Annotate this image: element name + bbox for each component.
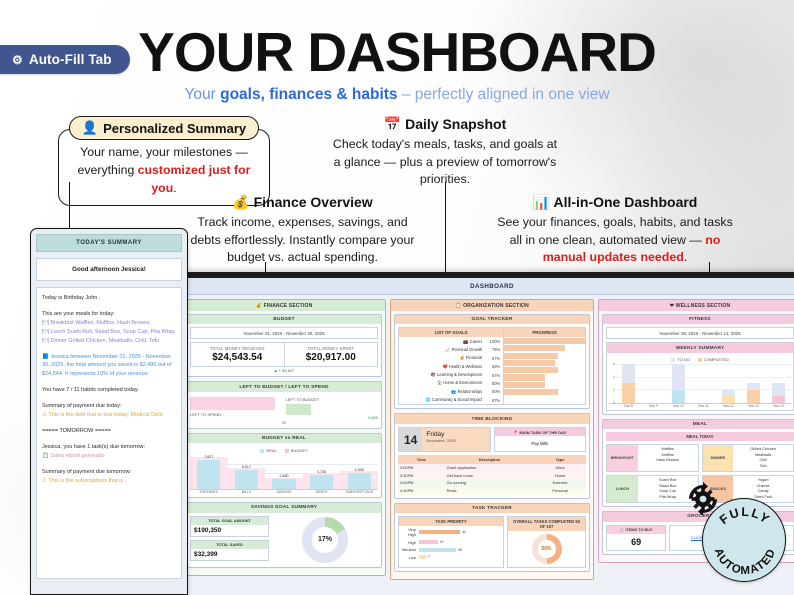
heart-icon: ❤️ — [443, 364, 448, 369]
summary-meals-intro: This are your meals for today: — [42, 311, 115, 317]
time-cell: 3:00PM — [398, 464, 445, 472]
priority-bar — [419, 540, 438, 544]
personalized-summary-chip: 👤 Personalized Summary — [69, 116, 259, 140]
tablet-frame: DASHBOARD 💰 FINANCE SECTION BUDGET Novem… — [172, 272, 794, 595]
fitness-stack — [672, 364, 685, 403]
goal-percent: 50% — [486, 389, 500, 394]
left-to-budget-label: LEFT TO BUDGET — [286, 397, 379, 404]
description-cell: Grant application — [445, 464, 535, 472]
fitness-completed-segment — [722, 396, 735, 403]
fitness-y-axis: 6420 — [609, 364, 616, 403]
left-to-budget-bar — [286, 404, 312, 415]
svg-text:FULLY: FULLY — [717, 505, 773, 527]
fitness-date-range[interactable]: November 08, 2025 - November 14, 2025 — [606, 327, 794, 339]
summary-tasks-tomorrow-item: 📋 Sales report generatio — [42, 453, 105, 459]
organization-section: 📋 ORGANIZATION SECTION GOAL TRACKER LIST… — [390, 299, 594, 580]
goal-row: 💰 Financial67% — [399, 354, 503, 362]
summary-meals: This are your meals for today: 🍽 Breakfa… — [42, 310, 176, 346]
wellness-section-title: WELLNESS SECTION — [676, 303, 731, 309]
fitness-card: FITNESS November 08, 2025 - November 14,… — [602, 314, 794, 415]
time-blocking-table: Time Description Type 3:00PMGrant applic… — [398, 455, 586, 494]
time-cell: 4:30PM — [398, 487, 445, 495]
overall-tasks-percent: 50% — [542, 546, 552, 552]
gear-refresh-icon — [683, 479, 723, 519]
summary-dinner: 🍽 Dinner Grilled Chicken, Meatballs, Chi… — [42, 338, 159, 344]
savings-goal-title: SAVINGS GOAL SUMMARY — [187, 503, 381, 512]
organization-section-title: ORGANIZATION SECTION — [463, 303, 529, 309]
overall-tasks-widget: OVERALL TASKS COMPLETED 53 OF 107 50% — [507, 516, 586, 568]
bvr-real-bar: 2,480 — [272, 479, 295, 489]
bvr-column: 4,338 — [340, 456, 378, 489]
legend-swatch-budget — [285, 449, 289, 453]
bvr-value-label: 4,338 — [348, 468, 371, 472]
overall-tasks-donut: 50% — [532, 534, 562, 564]
fitness-stack — [747, 383, 760, 403]
fitness-column — [691, 364, 716, 403]
goal-name: ❤️ Health & Wellness — [402, 364, 486, 370]
goal-name: 📚 Learning & Development — [402, 372, 486, 378]
fitness-x-axis: Nov 8Nov 9Nov 10Nov 11Nov 12Nov 13Nov 14 — [609, 404, 791, 408]
weekly-summary-chart-wrap: TO DO COMPLETED 6420 — [607, 353, 793, 410]
finance-section-title-row: 💰 FINANCE SECTION — [183, 300, 385, 311]
day-name: Friday — [426, 431, 455, 438]
task-tracker-title: TASK TRACKER — [395, 504, 589, 513]
cart-icon: 🛒 — [620, 528, 625, 532]
time-blocking-title: TIME BLOCKING — [395, 414, 589, 423]
personalized-line2-post: . — [173, 181, 176, 195]
total-goal-amount-box: TOTAL GOAL AMOUNT $190,350 — [190, 516, 269, 537]
legend-swatch-real — [260, 449, 264, 453]
bvr-x-label: DEBTS — [303, 490, 341, 494]
items-to-buy-label: 🛒 ITEMS TO BUY — [607, 526, 665, 534]
savings-layout: TOTAL GOAL AMOUNT $190,350 TOTAL SAVED $… — [190, 516, 378, 564]
all-in-one-title: All-in-One Dashboard — [553, 194, 697, 210]
bar-chart-icon: 📊 — [533, 194, 550, 210]
goal-name: 🏠 Home & Environment — [402, 380, 486, 386]
main-task-widget: 📍 MAIN TASK OF THE DAY Pay Bills — [494, 427, 587, 453]
left-to-budget-group: LEFT TO BUDGET 3,699 — [286, 397, 379, 420]
summary-body: Today is Birthday John . This are your m… — [36, 287, 182, 579]
goal-percent: 75% — [486, 347, 500, 352]
goal-name: 👥 Relationships — [402, 389, 486, 395]
lunch-label: LUNCH — [607, 476, 638, 502]
main-task-value: Pay Bills — [495, 436, 586, 451]
fitness-y-tick: 2 — [613, 388, 615, 392]
goal-list-column: LIST OF GOALS 💼 Career100%📈 Personal Gro… — [399, 328, 503, 404]
savings-goal-card: SAVINGS GOAL SUMMARY TOTAL GOAL AMOUNT $… — [186, 502, 382, 567]
goal-row: ❤️ Health & Wellness63% — [399, 363, 503, 371]
fitness-stack — [772, 383, 785, 403]
goal-list-header: LIST OF GOALS — [399, 328, 503, 337]
all-in-one-text-pre: See your finances, goals, habits, and ta… — [497, 215, 733, 247]
summary-payments-today-title: Summary of payment due today: — [42, 403, 121, 409]
organization-column: 📋 ORGANIZATION SECTION GOAL TRACKER LIST… — [390, 299, 594, 584]
savings-donut-wrap: 17% — [272, 516, 378, 564]
fitness-column — [741, 364, 766, 403]
wellness-section-title-row: ❤ WELLNESS SECTION — [599, 300, 794, 311]
type-cell: Home — [534, 471, 586, 479]
priority-value: 38 — [456, 548, 462, 552]
task-tracker-layout: TASK PRIORITY Very High42High19Medium38L… — [398, 516, 586, 568]
time-cell: 3:30PM — [398, 471, 445, 479]
goal-progress-bar-row — [504, 374, 585, 381]
money-bag-icon: 💰 — [256, 303, 262, 309]
month-year: November, 2025 — [426, 438, 455, 443]
fitness-y-tick: 6 — [613, 362, 615, 366]
finance-section-title: FINANCE SECTION — [264, 303, 313, 309]
goal-name: 💰 Financial — [402, 355, 486, 361]
date-widget: 14 Friday November, 2025 — [398, 427, 491, 453]
goal-progress-bar — [504, 382, 544, 388]
priority-bar — [419, 555, 426, 559]
goal-percent: 63% — [486, 364, 500, 369]
left-to-axis-zero: $0 — [190, 420, 378, 425]
priority-name: High — [402, 540, 419, 545]
goal-row: 👥 Relationships50% — [399, 388, 503, 396]
dinner-items: Grilled Chicken Meatballs Chili Tofu — [733, 445, 793, 471]
fitness-legend: TO DO COMPLETED — [609, 355, 791, 364]
task-priority-row: High19 — [399, 538, 503, 546]
bvr-value-label: 3,735 — [310, 470, 333, 474]
fitness-stack — [622, 364, 635, 403]
savings-figures: TOTAL GOAL AMOUNT $190,350 TOTAL SAVED $… — [190, 516, 269, 564]
summary-payments-tomorrow-item: ⚠ This is the subscriptions that is .. — [42, 478, 128, 484]
breakfast-cell: BREAKFAST Waffles Muffins Hash Browns — [606, 444, 699, 472]
callout-all-in-one: 📊 All-in-One Dashboard See your finances… — [495, 194, 735, 267]
goal-tracker-title: GOAL TRACKER — [395, 315, 589, 324]
description-cell: Go running — [445, 479, 535, 487]
items-to-buy-text: ITEMS TO BUY — [626, 528, 653, 532]
type-cell: Exercise — [534, 479, 586, 487]
all-in-one-text: See your finances, goals, habits, and ta… — [495, 214, 735, 267]
task-priority-row: Medium38 — [399, 546, 503, 554]
personalized-line2-highlight: customized just for you — [138, 163, 251, 195]
left-to-green-value: 3,699 — [286, 415, 379, 420]
weekly-summary-widget: WEEKLY SUMMARY TO DO COMPLETED 6420 — [606, 342, 794, 410]
summary-lunch: 🍽 Lunch Sushi Roll, Salad Box, Soup Cup,… — [42, 329, 175, 335]
goal-progress-bar-row — [504, 381, 585, 388]
task-priority-row: Very High42 — [399, 526, 503, 539]
finance-overview-title: Finance Overview — [254, 194, 373, 210]
fitness-x-label: Nov 8 — [616, 404, 641, 408]
fitness-title: FITNESS — [603, 315, 794, 324]
bvr-real-bar: 7,827 — [197, 460, 220, 489]
person-icon: 👤 — [82, 120, 98, 136]
goal-progress-column: PROGRESS — [503, 328, 585, 404]
all-in-one-text-post: . — [684, 250, 687, 264]
total-money-spent: TOTAL MONEY SPENT $20,917.00 — [284, 343, 378, 366]
priority-value: 7 — [426, 555, 430, 559]
dinner-cell: DINNER Grilled Chicken Meatballs Chili T… — [702, 444, 794, 472]
goal-tracker-table: LIST OF GOALS 💼 Career100%📈 Personal Gro… — [398, 327, 586, 405]
legend-todo: TO DO — [671, 357, 690, 362]
summary-payments-today: Summary of payment due today: ⚠ This is … — [42, 402, 176, 420]
summary-p1: Today is Birthday John . — [42, 294, 176, 303]
time-block-row: 3:30PMGet back homeHome — [398, 471, 586, 479]
heart-icon: ❤ — [670, 303, 674, 309]
goal-progress-bars — [504, 337, 585, 395]
main-task-header: 📍 MAIN TASK OF THE DAY — [495, 428, 586, 437]
bvr-value-label: 2,480 — [272, 474, 295, 478]
priority-name: Low — [402, 555, 419, 560]
bvr-x-axis: EXPENSESBILLSSAVINGSDEBTSSUBSCRIPTIONS — [190, 490, 378, 494]
goal-name: 📈 Personal Growth — [402, 347, 486, 353]
fitness-body: November 08, 2025 - November 14, 2025 WE… — [603, 324, 794, 413]
bvr-real-bar: 4,338 — [348, 473, 371, 490]
daily-snapshot-title: Daily Snapshot — [405, 116, 506, 132]
globe-icon: 🌐 — [426, 397, 431, 402]
time-block-row: 3:00PMGrant applicationWork — [398, 464, 586, 472]
personalized-line2-pre: everything — [78, 163, 138, 177]
left-to-card-title: LEFT TO BUDGET / LEFT TO SPEND — [187, 382, 381, 391]
daily-snapshot-text: Check today's meals, tasks, and goals at… — [330, 136, 560, 189]
savings-goal-body: TOTAL GOAL AMOUNT $190,350 TOTAL SAVED $… — [187, 513, 381, 567]
finance-section: 💰 FINANCE SECTION BUDGET November 01, 20… — [182, 299, 386, 576]
goal-rows: 💼 Career100%📈 Personal Growth75%💰 Financ… — [399, 337, 503, 404]
clipboard-icon: 📋 — [455, 303, 461, 309]
goal-percent: 50% — [486, 381, 500, 386]
fitness-completed-segment — [622, 383, 635, 403]
time-blocking-top: 14 Friday November, 2025 📍 M — [398, 427, 586, 453]
fitness-column — [641, 364, 666, 403]
pin-icon: 📍 — [513, 430, 518, 435]
subtitle-bold: goals, finances & habits — [220, 86, 397, 103]
time-cell: 4:00PM — [398, 479, 445, 487]
breakfast-label: BREAKFAST — [607, 445, 638, 471]
bvr-x-label: EXPENSES — [190, 490, 228, 494]
bvr-legend-real-label: REAL — [266, 448, 276, 453]
goal-progress-bar — [504, 353, 558, 359]
fitness-x-label: Nov 12 — [716, 404, 741, 408]
goal-row: 🌐 Community & Social Impact67% — [399, 396, 503, 404]
summary-payments-tomorrow-title: Summary of payment due tomorrow: — [42, 469, 131, 475]
budget-card-body: November 01, 2025 - November 30, 2025 TO… — [187, 324, 381, 376]
bvr-bar-group: 7,8275,0172,4803,7354,338 — [190, 456, 378, 489]
goal-progress-bar — [504, 374, 544, 380]
goal-progress-bar-row — [504, 337, 585, 344]
budget-totals: TOTAL MONEY RECEIVED $24,543.54 TOTAL MO… — [190, 342, 378, 367]
task-tracker-card: TASK TRACKER TASK PRIORITY Very High42Hi… — [394, 503, 590, 572]
overall-tasks-title: OVERALL TASKS COMPLETED 53 OF 107 — [508, 517, 585, 531]
task-priority-row: Low7 — [399, 553, 503, 561]
fitness-todo-segment — [622, 364, 635, 384]
bvr-value-label: 5,017 — [235, 465, 258, 469]
fitness-completed-segment — [772, 396, 785, 403]
received-value: $24,543.54 — [192, 352, 283, 363]
col-description: Description — [445, 455, 535, 463]
goal-progress-bar — [504, 360, 555, 366]
total-saved-box: TOTAL SAVED $32,399 — [190, 540, 269, 561]
weekly-summary-chart: 6420 — [609, 364, 791, 404]
priority-name: Medium — [402, 547, 419, 552]
items-to-buy-box: 🛒 ITEMS TO BUY 69 — [606, 525, 666, 551]
personalized-line1: Your name, your milestones — — [80, 145, 248, 159]
goal-row: 🏠 Home & Environment50% — [399, 379, 503, 387]
priority-bar — [419, 548, 456, 552]
bvr-x-label: SUBSCRIPTIONS — [340, 490, 378, 494]
svg-text:AUTOMATED: AUTOMATED — [712, 547, 779, 577]
page-title: YOUR DASHBOARD — [0, 20, 794, 84]
fitness-y-tick: 4 — [613, 375, 615, 379]
goal-percent: 67% — [486, 373, 500, 378]
bvr-x-label: SAVINGS — [265, 490, 303, 494]
spent-value: $20,917.00 — [286, 352, 377, 363]
budget-date-range[interactable]: November 01, 2025 - November 30, 2025 — [190, 327, 378, 339]
fitness-x-label: Nov 10 — [666, 404, 691, 408]
dashboard-screen: DASHBOARD 💰 FINANCE SECTION BUDGET Novem… — [178, 278, 794, 595]
left-to-spend-bar — [190, 397, 275, 410]
type-cell: Work — [534, 464, 586, 472]
fitness-todo-segment — [772, 383, 785, 396]
briefcase-icon: 💼 — [463, 339, 468, 344]
callout-finance-overview: 💰 Finance Overview Track income, expense… — [190, 194, 415, 267]
time-block-row: 4:30PMRelaxPersonal — [398, 487, 586, 495]
callout-daily-snapshot: 📅 Daily Snapshot Check today's meals, ta… — [330, 116, 560, 189]
legend-todo-label: TO DO — [677, 357, 690, 362]
goal-progress-bar-row — [504, 345, 585, 352]
bvr-legend: REAL BUDGET — [190, 446, 378, 455]
summary-payments-tomorrow: Summary of payment due tomorrow: ⚠ This … — [42, 468, 176, 486]
legend-swatch-todo — [671, 358, 675, 362]
priority-value: 19 — [438, 540, 444, 544]
summary-habits: You have 7 / 11 habits completed today. — [42, 386, 176, 395]
fitness-stack — [722, 390, 735, 403]
bvr-legend-budget-label: BUDGET — [291, 448, 308, 453]
fitness-x-label: Nov 13 — [741, 404, 766, 408]
goal-progress-header: PROGRESS — [504, 328, 585, 337]
savings-percent: 17% — [318, 536, 332, 543]
left-to-budget-card: LEFT TO BUDGET / LEFT TO SPEND LEFT TO S… — [186, 381, 382, 428]
subtitle-post: – perfectly aligned in one view — [398, 86, 610, 103]
fitness-completed-segment — [747, 390, 760, 403]
goal-name: 💼 Career — [402, 339, 486, 345]
fitness-x-label: Nov 14 — [766, 404, 791, 408]
book-icon: 📚 — [431, 372, 436, 377]
meal-row-1: BREAKFAST Waffles Muffins Hash Browns DI… — [606, 444, 794, 472]
description-cell: Relax — [445, 487, 535, 495]
total-saved-value: $32,399 — [191, 549, 268, 560]
money-icon: 💰 — [460, 355, 465, 360]
left-to-spend-group: LEFT TO SPEND — [190, 397, 283, 417]
calendar-icon: 📅 — [384, 116, 401, 132]
time-blocking-card: TIME BLOCKING 14 Friday November, 2025 — [394, 413, 590, 498]
description-cell: Get back home — [445, 471, 535, 479]
breakfast-items: Waffles Muffins Hash Browns — [638, 445, 698, 471]
goal-row: 📈 Personal Growth75% — [399, 346, 503, 354]
finance-column: 💰 FINANCE SECTION BUDGET November 01, 20… — [182, 299, 386, 584]
legend-swatch-completed — [698, 358, 702, 362]
money-bag-icon: 💰 — [232, 194, 249, 210]
summary-tasks-tomorrow-title: Jessica, you have 1 task(s) due tomorrow… — [42, 444, 145, 450]
summary-savings: 📘 Jessica between November 01, 2025 - No… — [42, 353, 176, 380]
fitness-column — [616, 364, 641, 403]
task-tracker-body: TASK PRIORITY Very High42High19Medium38L… — [395, 513, 589, 571]
legend-completed: COMPLETED — [698, 357, 729, 362]
bvr-column: 7,827 — [190, 456, 228, 489]
page-subtitle: Your goals, finances & habits – perfectl… — [0, 86, 794, 104]
goal-percent: 67% — [486, 356, 500, 361]
priority-value: 42 — [460, 530, 466, 534]
total-saved-label: TOTAL SAVED — [191, 541, 268, 549]
bvr-x-label: BILLS — [228, 490, 266, 494]
main-task-title: MAIN TASK OF THE DAY — [519, 430, 566, 435]
left-to-spend-label: LEFT TO SPEND — [190, 410, 283, 417]
budget-vs-real-chart: 7,8275,0172,4803,7354,338 — [190, 456, 378, 490]
bvr-value-label: 7,827 — [197, 455, 220, 459]
meal-title: MEAL — [603, 420, 794, 429]
callout-personalized-summary: 👤 Personalized Summary Your name, your m… — [58, 116, 270, 206]
fitness-column — [716, 364, 741, 403]
goal-progress-bar — [504, 367, 558, 373]
goal-row: 📚 Learning & Development67% — [399, 371, 503, 379]
summary-payments-today-item: ⚠ This is the debt that is due today: Me… — [42, 412, 163, 418]
budget-vs-real-title: BUDGET vs REAL — [187, 434, 381, 443]
priority-bar — [419, 530, 460, 534]
goal-row: 💼 Career100% — [399, 337, 503, 345]
bvr-column: 2,480 — [265, 456, 303, 489]
bvr-column: 5,017 — [228, 456, 266, 489]
col-time: Time — [398, 455, 445, 463]
goal-progress-bar — [504, 345, 565, 351]
task-priority-rows: Very High42High19Medium38Low7 — [399, 526, 503, 561]
total-money-received: TOTAL MONEY RECEIVED $24,543.54 — [191, 343, 284, 366]
weekly-summary-title: WEEKLY SUMMARY — [607, 343, 793, 352]
summary-tasks-tomorrow: Jessica, you have 1 task(s) due tomorrow… — [42, 443, 176, 461]
finance-overview-text: Track income, expenses, savings, and deb… — [190, 214, 415, 267]
task-priority-title: TASK PRIORITY — [399, 517, 503, 526]
goal-progress-bar-row — [504, 367, 585, 374]
bvr-legend-real: REAL — [260, 448, 276, 453]
daily-snapshot-title-row: 📅 Daily Snapshot — [330, 116, 560, 133]
date-info: Friday November, 2025 — [422, 428, 459, 452]
task-priority-widget: TASK PRIORITY Very High42High19Medium38L… — [398, 516, 504, 568]
goal-progress-bar-row — [504, 352, 585, 359]
budget-card-title: BUDGET — [187, 315, 381, 324]
dinner-label: DINNER — [703, 445, 734, 471]
left-to-bars: LEFT TO SPEND LEFT TO BUDGET 3,699 — [190, 395, 378, 420]
all-in-one-title-row: 📊 All-in-One Dashboard — [495, 194, 735, 211]
time-blocking-body: 14 Friday November, 2025 📍 M — [395, 424, 589, 498]
todays-summary-panel: TODAY'S SUMMARY Good afternoon Jessica! … — [30, 228, 188, 595]
fitness-bar-group — [616, 364, 791, 403]
time-table-body: 3:00PMGrant applicationWork3:30PMGet bac… — [398, 464, 586, 495]
summary-tomorrow-sep: ===== TOMORROW ===== — [42, 427, 176, 436]
goal-progress-bar-row — [504, 359, 585, 366]
fitness-y-tick: 0 — [613, 401, 615, 405]
dashboard-title: DASHBOARD — [178, 278, 794, 295]
todays-summary-header: TODAY'S SUMMARY — [36, 234, 182, 252]
bvr-legend-budget: BUDGET — [285, 448, 308, 453]
goal-percent: 100% — [486, 339, 500, 344]
goal-progress-bar-row — [504, 388, 585, 395]
fitness-todo-segment — [672, 364, 685, 390]
goal-name: 🌐 Community & Social Impact — [402, 397, 486, 403]
fitness-x-label: Nov 9 — [641, 404, 666, 408]
fully-automated-badge: FULLY AUTOMATED — [702, 498, 786, 582]
bvr-column: 3,735 — [303, 456, 341, 489]
savings-donut-chart: 17% — [302, 517, 348, 563]
house-icon: 🏠 — [437, 380, 442, 385]
fitness-column — [666, 364, 691, 403]
left-to-card-body: LEFT TO SPEND LEFT TO BUDGET 3,699 $0 — [187, 392, 381, 428]
spent-label: TOTAL MONEY SPENT — [286, 346, 377, 351]
priority-name: Very High — [402, 527, 419, 537]
day-number: 14 — [399, 428, 422, 452]
summary-breakfast: 🍽 Breakfast Waffles, Muffins, Hash Brown… — [42, 320, 150, 326]
personalized-summary-chip-label: Personalized Summary — [103, 121, 246, 136]
finance-overview-title-row: 💰 Finance Overview — [190, 194, 415, 211]
budget-card: BUDGET November 01, 2025 - November 30, … — [186, 314, 382, 377]
